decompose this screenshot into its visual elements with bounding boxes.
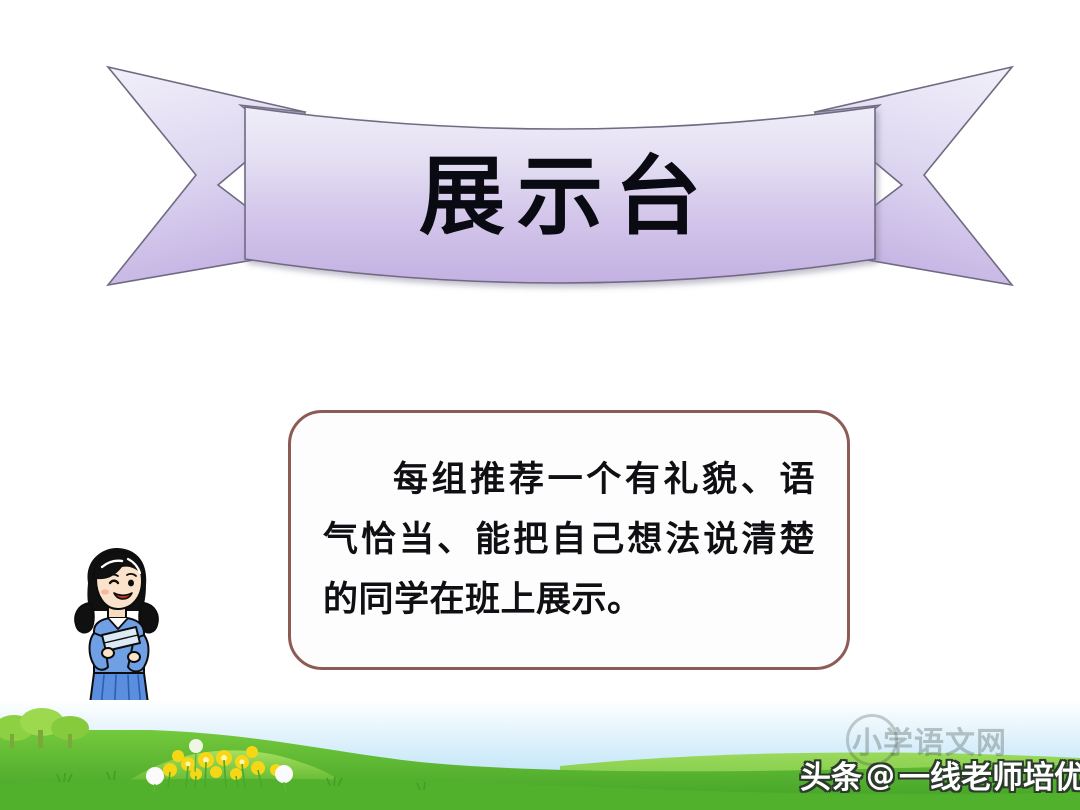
ribbon-banner: 展示台 [100,55,1020,315]
eye-right [128,580,134,587]
instruction-text: 每组推荐一个有礼貌、语气恰当、能把自己想法说清楚的同学在班上展示。 [323,450,815,631]
dandelion-top [189,739,203,753]
pigtail-left [75,603,94,632]
instruction-box: 每组推荐一个有礼貌、语气恰当、能把自己想法说清楚的同学在班上展示。 [288,410,850,670]
dandelion-left [146,767,164,785]
ribbon-main-panel [245,107,875,283]
dandelion-right [275,765,293,783]
hand-right [128,652,140,662]
slide-canvas: 展示台 每组推荐一个有礼貌、语气恰当、能把自己想法说清楚的同学在班上展示。 [0,0,1080,810]
cheek-left [101,589,109,594]
green-hills-landscape-icon [0,700,1080,810]
landscape-footer [0,700,1080,810]
hand-left [102,648,114,658]
ribbon-banner-icon [100,55,1020,315]
